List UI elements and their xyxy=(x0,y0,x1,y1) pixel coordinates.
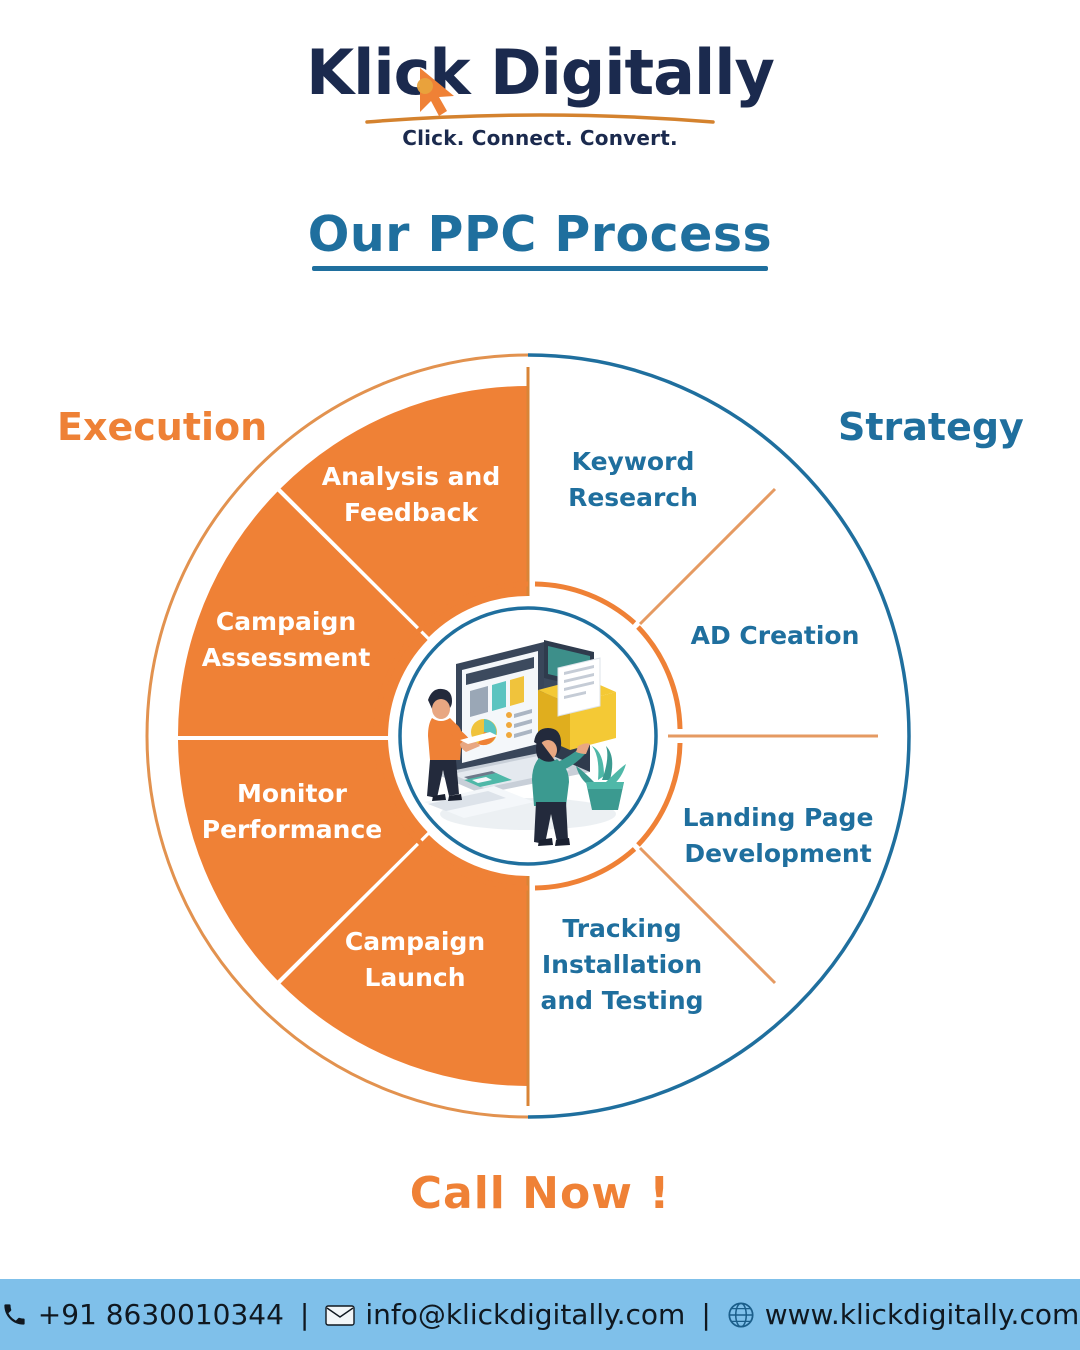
label-campaign-assessment-line2: Assessment xyxy=(202,643,371,672)
footer-phone[interactable]: +91 8630010344 xyxy=(38,1298,284,1331)
logo-wordmark: Klick Digitally xyxy=(306,42,774,104)
label-landing-page-line2: Development xyxy=(684,839,871,868)
brand-logo: Klick Digitally Click. Connect. Convert. xyxy=(0,42,1080,150)
label-tracking-line1: Tracking xyxy=(562,914,681,943)
footer-email[interactable]: info@klickdigitally.com xyxy=(365,1298,685,1331)
contact-footer-bar: +91 8630010344 | info@klickdigitally.com… xyxy=(0,1276,1080,1350)
label-analysis-feedback-line1: Analysis and xyxy=(322,462,500,491)
logo-text: Klick Digitally xyxy=(306,36,774,109)
cursor-arrow-icon xyxy=(414,66,458,118)
label-campaign-launch-line1: Campaign xyxy=(345,927,485,956)
footer-website[interactable]: www.klickdigitally.com xyxy=(765,1298,1080,1331)
strategy-dividers xyxy=(640,489,878,983)
label-campaign-assessment-line1: Campaign xyxy=(216,607,356,636)
footer-separator-1: | xyxy=(294,1298,315,1331)
label-monitor-performance-line2: Performance xyxy=(202,815,382,844)
wheel-svg: Analysis and Feedback Campaign Assessmen… xyxy=(0,330,1080,1140)
call-now-text[interactable]: Call Now ! xyxy=(0,1168,1080,1219)
label-tracking-line2: Installation xyxy=(542,950,702,979)
globe-icon xyxy=(727,1301,755,1329)
label-analysis-feedback-line2: Feedback xyxy=(344,498,479,527)
logo-tagline: Click. Connect. Convert. xyxy=(0,126,1080,150)
label-tracking-line3: and Testing xyxy=(540,986,703,1015)
envelope-icon xyxy=(325,1303,355,1327)
label-keyword-research-line1: Keyword xyxy=(572,447,695,476)
strategy-heading: Strategy xyxy=(838,405,1024,449)
label-campaign-launch-line2: Launch xyxy=(364,963,465,992)
phone-icon xyxy=(1,1301,28,1328)
ppc-process-wheel: Analysis and Feedback Campaign Assessmen… xyxy=(0,330,1080,1140)
label-keyword-research-line2: Research xyxy=(568,483,698,512)
page-title-underline xyxy=(312,266,768,271)
footer-separator-2: | xyxy=(695,1298,716,1331)
page-title: Our PPC Process xyxy=(0,206,1080,263)
execution-heading: Execution xyxy=(57,405,267,449)
label-landing-page-line1: Landing Page xyxy=(683,803,874,832)
label-monitor-performance-line1: Monitor xyxy=(237,779,348,808)
label-ad-creation: AD Creation xyxy=(691,621,860,650)
